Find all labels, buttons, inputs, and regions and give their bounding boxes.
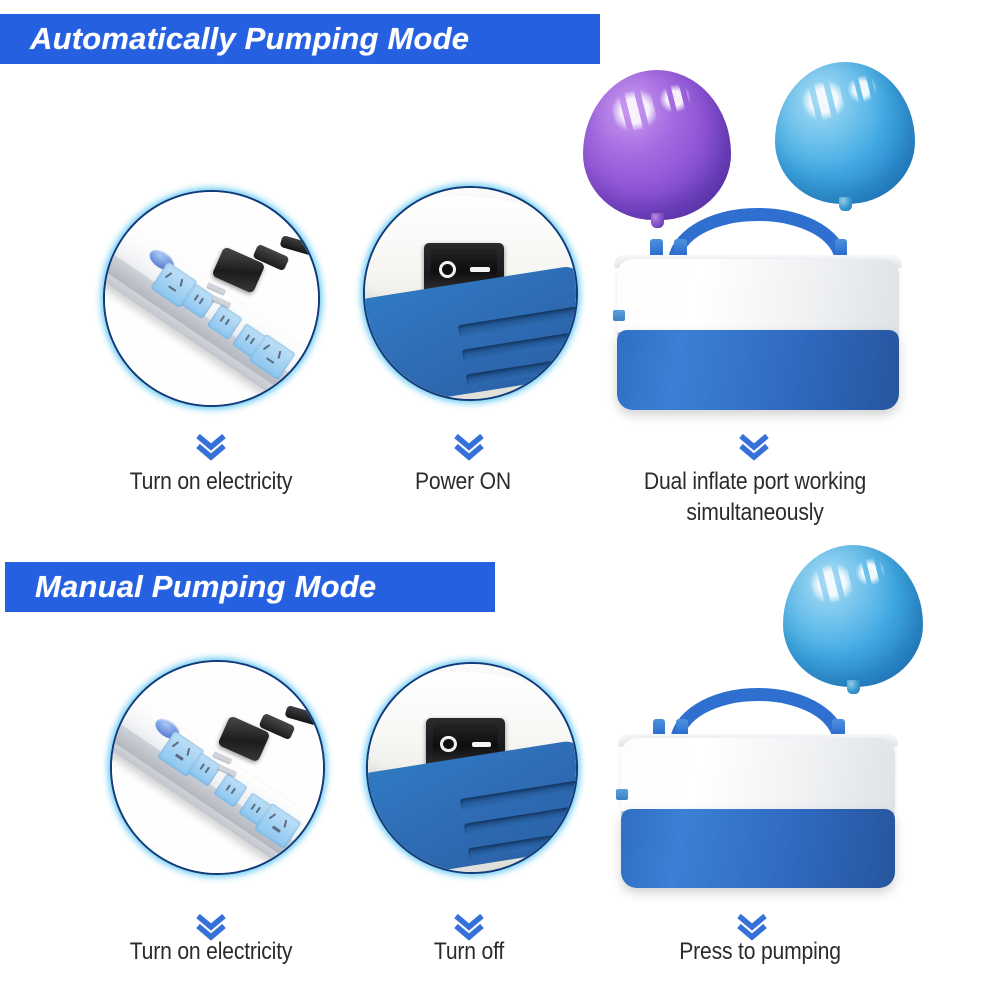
step-caption-auto-2: Power ON (366, 466, 560, 497)
pump-blue-base (621, 809, 895, 888)
balloon-blue (783, 545, 923, 687)
photo-rocker-switch-manual (366, 662, 578, 874)
rocker-switch-scene (365, 188, 576, 399)
balloon-neck (651, 213, 664, 228)
photo-pump-one-balloon (612, 668, 904, 888)
balloon-purple (583, 70, 731, 220)
balloon-highlight-secondary (657, 82, 692, 115)
pump-side-port (613, 310, 625, 321)
pump-white-housing (617, 259, 899, 334)
pump-white-housing (621, 738, 895, 813)
double-chevron-down-icon (737, 432, 771, 462)
photo-power-strip-manual (110, 660, 325, 875)
balloon-neck (839, 197, 852, 211)
pump-blue-base (617, 330, 899, 410)
step-caption-auto-3-line2: simultaneously (605, 497, 904, 528)
section-banner-automatic: Automatically Pumping Mode (0, 14, 600, 64)
step-caption-manual-1: Turn on electricity (79, 936, 343, 967)
infographic-page: Automatically Pumping Mode (0, 0, 1000, 1000)
step-caption-manual-3: Press to pumping (659, 936, 861, 967)
balloon-highlight-secondary (845, 73, 878, 105)
double-chevron-down-icon (452, 432, 486, 462)
balloon-highlight (609, 86, 662, 135)
power-off-circle-icon (440, 736, 457, 753)
power-off-circle-icon (439, 261, 456, 278)
double-chevron-down-icon (194, 432, 228, 462)
section-banner-label: Automatically Pumping Mode (30, 21, 469, 57)
power-on-bar-icon (472, 742, 491, 747)
balloon-highlight (799, 77, 849, 123)
section-banner-manual: Manual Pumping Mode (5, 562, 495, 612)
step-caption-auto-1: Turn on electricity (79, 466, 343, 497)
pump-side-port (616, 789, 628, 800)
step-caption-auto-3-line1: Dual inflate port working (605, 466, 904, 497)
photo-power-strip-auto (103, 190, 320, 407)
step-caption-manual-2: Turn off (372, 936, 566, 967)
balloon-highlight-secondary (853, 556, 886, 588)
rocker-switch-scene (368, 664, 576, 872)
power-strip-scene (105, 192, 318, 405)
step-caption-auto-3: Dual inflate port working simultaneously (605, 466, 904, 528)
power-strip-scene (112, 662, 323, 873)
section-banner-label: Manual Pumping Mode (35, 569, 376, 605)
balloon-blue (775, 62, 915, 204)
power-on-bar-icon (470, 267, 490, 272)
photo-rocker-switch-auto (363, 186, 578, 401)
balloon-highlight (807, 560, 857, 606)
balloon-neck (847, 680, 860, 694)
